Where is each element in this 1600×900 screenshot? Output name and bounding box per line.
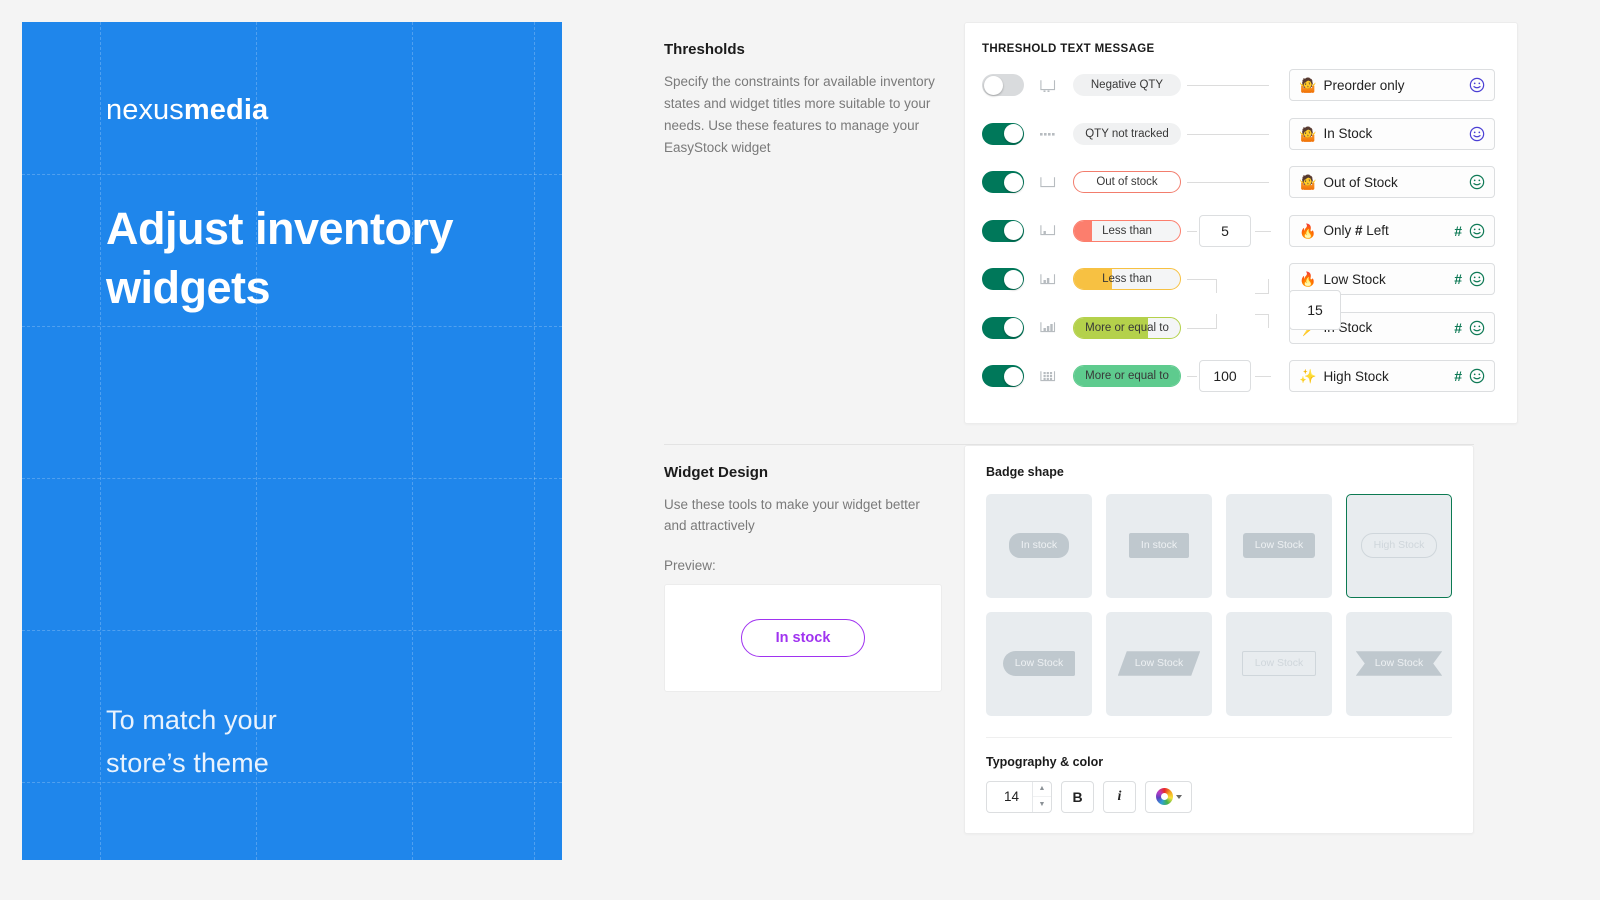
chevron-down-icon — [1176, 795, 1182, 799]
message-text: High Stock — [1323, 369, 1447, 384]
badge-shape-sample: Low Stock — [1243, 533, 1315, 558]
threshold-row: Out of stock🤷Out of Stock — [982, 158, 1495, 207]
threshold-connector — [1183, 61, 1273, 109]
threshold-row: More or equal to ⚡In Stock# — [982, 304, 1495, 353]
badge-shape-sample: Low Stock — [1356, 651, 1442, 676]
message-emoji: 🔥 — [1299, 272, 1316, 286]
meter-high-icon — [1035, 320, 1061, 335]
threshold-toggle[interactable] — [982, 268, 1024, 290]
badge-shape-option[interactable]: Low Stock — [1106, 612, 1212, 716]
badge-shape-option[interactable]: Low Stock — [1226, 494, 1332, 598]
message-text: Out of Stock — [1323, 175, 1462, 190]
thresholds-info: Thresholds Specify the constraints for a… — [664, 22, 964, 424]
threshold-connector — [1183, 304, 1273, 352]
badge-shape-grid: In stockIn stockLow StockHigh StockLow S… — [986, 494, 1452, 716]
insert-qty-token-button[interactable]: # — [1454, 320, 1462, 336]
meter-dots-icon — [1035, 127, 1061, 141]
logo-text-light: nexus — [106, 94, 184, 126]
insert-qty-token-button[interactable]: # — [1454, 368, 1462, 384]
emoji-picker-button[interactable] — [1469, 77, 1485, 93]
badge-shape-sample: Low Stock — [1242, 651, 1316, 676]
brand-logo: nexusmedia — [106, 96, 562, 125]
badge-shape-sample: High Stock — [1361, 533, 1438, 558]
toggle-knob — [1004, 270, 1023, 289]
message-text: Low Stock — [1323, 272, 1447, 287]
threshold-row: Less than5🔥Only # Left# — [982, 207, 1495, 256]
threshold-message-input[interactable]: 🤷Out of Stock — [1289, 166, 1495, 198]
thresholds-section: Thresholds Specify the constraints for a… — [664, 22, 1474, 424]
widget-design-description: Use these tools to make your widget bett… — [664, 494, 938, 538]
threshold-condition-label: More or equal to — [1085, 322, 1169, 334]
insert-qty-token-button[interactable]: # — [1454, 271, 1462, 287]
threshold-message-input[interactable]: 🤷Preorder only — [1289, 69, 1495, 101]
threshold-row: More or equal to100✨High Stock# — [982, 352, 1495, 401]
threshold-condition-label: Out of stock — [1096, 176, 1157, 188]
threshold-toggle[interactable] — [982, 123, 1024, 145]
widget-design-title: Widget Design — [664, 464, 938, 481]
emoji-picker-button[interactable] — [1469, 126, 1485, 142]
badge-shape-sample: Low Stock — [1003, 651, 1075, 676]
toggle-knob — [1004, 367, 1023, 386]
hero-headline: Adjust inventory widgets — [106, 199, 506, 318]
threshold-rows: Negative QTY🤷Preorder only QTY not track… — [982, 61, 1495, 401]
threshold-condition-pill[interactable]: Out of stock — [1073, 171, 1181, 193]
preview-label: Preview: — [664, 558, 938, 573]
toggle-knob — [984, 76, 1003, 95]
message-emoji: 🔥 — [1299, 224, 1316, 238]
hero-subline-line2: store’s theme — [106, 742, 277, 786]
color-picker-button[interactable] — [1145, 781, 1192, 813]
threshold-row: Negative QTY🤷Preorder only — [982, 61, 1495, 110]
logo-text-bold: media — [184, 94, 268, 126]
typography-controls: 14 ▲ ▼ B i — [986, 781, 1452, 813]
badge-shape-option[interactable]: Low Stock — [1226, 612, 1332, 716]
message-emoji: 🤷 — [1299, 78, 1316, 92]
shared-qty-wrapper: 15 — [1289, 290, 1341, 330]
typography-section: Typography & color 14 ▲ ▼ B i — [986, 737, 1452, 813]
emoji-picker-button[interactable] — [1469, 271, 1485, 287]
threshold-connector — [1183, 255, 1273, 303]
thresholds-title: Thresholds — [664, 41, 938, 58]
threshold-toggle[interactable] — [982, 74, 1024, 96]
preview-box: In stock — [664, 584, 942, 692]
settings-column: Thresholds Specify the constraints for a… — [664, 22, 1474, 834]
emoji-picker-button[interactable] — [1469, 320, 1485, 336]
emoji-picker-button[interactable] — [1469, 368, 1485, 384]
meter-low-icon — [1035, 223, 1061, 238]
badge-shape-option[interactable]: Low Stock — [986, 612, 1092, 716]
font-size-value: 14 — [987, 789, 1032, 804]
preview-badge: In stock — [741, 619, 866, 657]
widget-design-section: Widget Design Use these tools to make yo… — [664, 445, 1474, 834]
font-size-steps: ▲ ▼ — [1032, 782, 1051, 812]
emoji-picker-button[interactable] — [1469, 223, 1485, 239]
toggle-knob — [1004, 318, 1023, 337]
color-wheel-icon — [1156, 788, 1173, 805]
threshold-row: QTY not tracked🤷In Stock — [982, 110, 1495, 159]
badge-shape-option[interactable]: High Stock — [1346, 494, 1452, 598]
shared-threshold-qty-input[interactable]: 15 — [1289, 290, 1341, 330]
message-text: Preorder only — [1323, 78, 1462, 93]
threshold-condition-pill[interactable]: Negative QTY — [1073, 74, 1181, 96]
meter-empty-icon — [1035, 78, 1061, 93]
toggle-knob — [1004, 221, 1023, 240]
meter-zero-icon — [1035, 175, 1061, 190]
badge-shape-sample: Low Stock — [1118, 651, 1200, 676]
badge-shape-sample: In stock — [1009, 533, 1069, 558]
threshold-connector: 100 — [1183, 352, 1273, 400]
message-text: Only # Left — [1323, 223, 1447, 238]
meter-full-icon — [1035, 369, 1061, 384]
badge-shape-option[interactable]: In stock — [986, 494, 1092, 598]
threshold-toggle[interactable] — [982, 317, 1024, 339]
widget-design-card: Badge shape In stockIn stockLow StockHig… — [964, 445, 1474, 834]
threshold-card-caption: THRESHOLD TEXT MESSAGE — [982, 43, 1495, 55]
pill-fill — [1074, 221, 1092, 241]
hero-subline: To match your store’s theme — [106, 699, 277, 786]
message-emoji: 🤷 — [1299, 175, 1316, 189]
threshold-message-input[interactable]: ✨High Stock# — [1289, 360, 1495, 392]
message-emoji: ✨ — [1299, 369, 1316, 383]
threshold-condition-label: More or equal to — [1085, 370, 1169, 382]
italic-button[interactable]: i — [1103, 781, 1136, 813]
font-size-stepper[interactable]: 14 ▲ ▼ — [986, 781, 1052, 813]
threshold-row: Less than 🔥Low Stock# — [982, 255, 1495, 304]
message-emoji: 🤷 — [1299, 127, 1316, 141]
badge-shape-option[interactable]: In stock — [1106, 494, 1212, 598]
threshold-toggle[interactable] — [982, 220, 1024, 242]
hero-panel: nexusmedia Adjust inventory widgets To m… — [22, 22, 562, 860]
threshold-condition-pill[interactable]: Less than — [1073, 220, 1181, 242]
insert-qty-token-button[interactable]: # — [1454, 223, 1462, 239]
threshold-message-input[interactable]: 🔥Only # Left# — [1289, 215, 1495, 247]
message-text: In Stock — [1323, 320, 1447, 335]
threshold-condition-pill[interactable]: More or equal to — [1073, 365, 1181, 387]
threshold-qty-input[interactable]: 100 — [1199, 360, 1251, 392]
message-text: In Stock — [1323, 126, 1462, 141]
typography-caption: Typography & color — [986, 755, 1452, 769]
threshold-condition-label: QTY not tracked — [1085, 128, 1169, 140]
font-size-decrease-button[interactable]: ▼ — [1033, 797, 1051, 812]
thresholds-card: THRESHOLD TEXT MESSAGE Negative QTY🤷Preo… — [964, 22, 1518, 424]
toggle-knob — [1004, 173, 1023, 192]
toggle-knob — [1004, 124, 1023, 143]
threshold-connector: 5 — [1183, 207, 1273, 255]
threshold-condition-label: Negative QTY — [1091, 79, 1163, 91]
threshold-condition-label: Less than — [1102, 273, 1152, 285]
threshold-condition-pill[interactable]: QTY not tracked — [1073, 123, 1181, 145]
emoji-picker-button[interactable] — [1469, 174, 1485, 190]
font-size-increase-button[interactable]: ▲ — [1033, 782, 1051, 798]
threshold-qty-input[interactable]: 5 — [1199, 215, 1251, 247]
widget-design-info: Widget Design Use these tools to make yo… — [664, 445, 964, 834]
threshold-connector — [1183, 158, 1273, 206]
threshold-toggle[interactable] — [982, 365, 1024, 387]
badge-shape-sample: In stock — [1129, 533, 1189, 558]
threshold-toggle[interactable] — [982, 171, 1024, 193]
badge-shape-option[interactable]: Low Stock — [1346, 612, 1452, 716]
badge-shape-caption: Badge shape — [986, 465, 1452, 479]
threshold-connector — [1183, 110, 1273, 158]
threshold-condition-pill[interactable]: More or equal to — [1073, 317, 1181, 339]
bold-button[interactable]: B — [1061, 781, 1094, 813]
threshold-condition-label: Less than — [1102, 225, 1152, 237]
threshold-condition-pill[interactable]: Less than — [1073, 268, 1181, 290]
hero-subline-line1: To match your — [106, 699, 277, 743]
threshold-message-input[interactable]: 🤷In Stock — [1289, 118, 1495, 150]
meter-mid-icon — [1035, 272, 1061, 287]
thresholds-description: Specify the constraints for available in… — [664, 71, 938, 158]
